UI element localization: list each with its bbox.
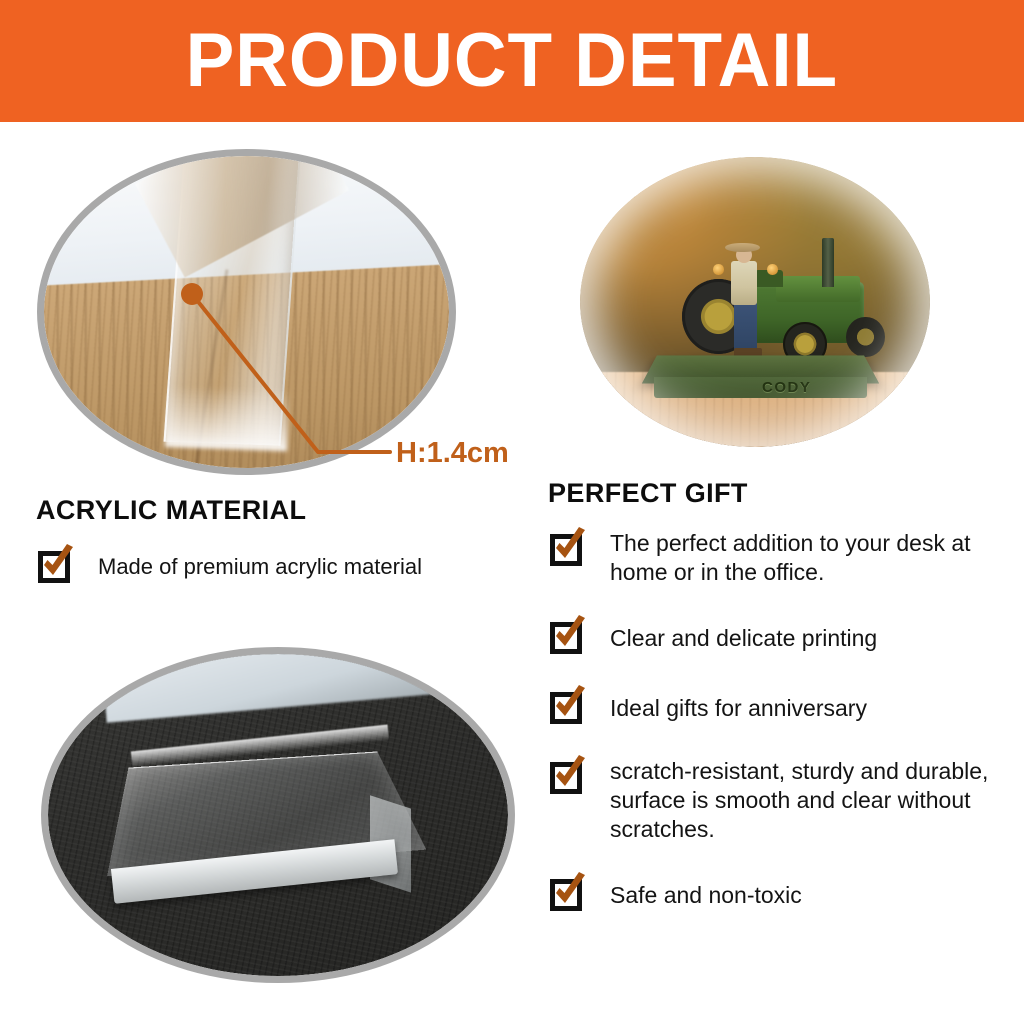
bullet-list-acrylic-material: Made of premium acrylic material [36,542,526,586]
photo-acrylic-edge-content [44,156,449,468]
bullet-text: Safe and non-toxic [610,870,802,910]
checkmark-icon [36,542,80,586]
checkmark-icon [548,525,592,569]
checkmark-icon [548,870,592,914]
photo-acrylic-block-content [48,654,508,976]
bullet-text: Made of premium acrylic material [98,542,422,581]
section-heading-acrylic-material: ACRYLIC MATERIAL [36,495,526,526]
height-measurement-label: H:1.4cm [396,437,509,470]
photo-vignette [580,157,930,447]
list-item: The perfect addition to your desk at hom… [548,525,1008,587]
bullet-text: Clear and delicate printing [610,613,877,653]
checkbox-checked-icon [548,525,592,569]
list-item: scratch-resistant, sturdy and durable, s… [548,753,1008,844]
checkbox-checked-icon [548,753,592,797]
page-title: PRODUCT DETAIL [186,23,838,99]
section-heading-perfect-gift: PERFECT GIFT [548,478,1008,509]
checkbox-checked-icon [36,542,80,586]
list-item: Clear and delicate printing [548,613,1008,657]
header-banner: PRODUCT DETAIL [0,0,1024,122]
bullet-text: The perfect addition to your desk at hom… [610,525,1008,587]
photo-tractor-figurine: CODY [580,157,930,447]
acrylic-base-glow [164,385,288,452]
checkmark-icon [548,683,592,727]
list-item: Safe and non-toxic [548,870,1008,914]
bullet-text: scratch-resistant, sturdy and durable, s… [610,753,1008,844]
checkmark-icon [548,613,592,657]
measurement-anchor-dot [181,283,203,305]
photo-tractor-content: CODY [580,157,930,447]
list-item: Made of premium acrylic material [36,542,526,586]
list-item: Ideal gifts for anniversary [548,683,1008,727]
bullet-list-perfect-gift: The perfect addition to your desk at hom… [548,525,1008,914]
section-acrylic-material: ACRYLIC MATERIAL Made of premium acrylic… [36,495,526,586]
checkbox-checked-icon [548,683,592,727]
photo-acrylic-block [48,654,508,976]
photo-acrylic-edge [44,156,449,468]
bullet-text: Ideal gifts for anniversary [610,683,867,723]
checkbox-checked-icon [548,613,592,657]
checkmark-icon [548,753,592,797]
section-perfect-gift: PERFECT GIFT The perfect addition to you… [548,478,1008,914]
checkbox-checked-icon [548,870,592,914]
